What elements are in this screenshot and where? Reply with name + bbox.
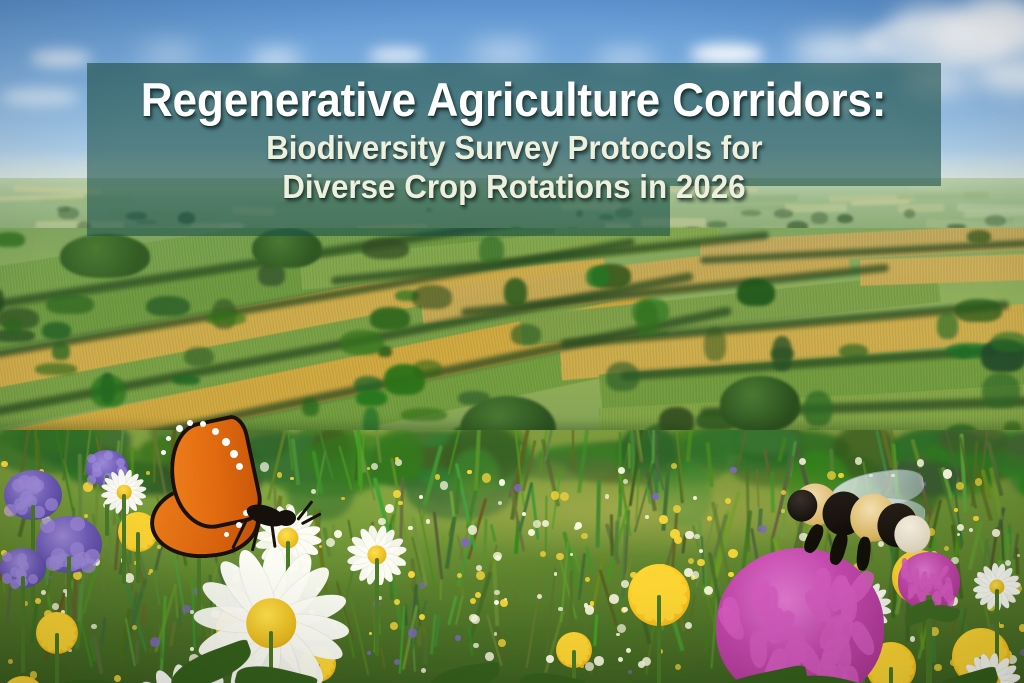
field-tree xyxy=(479,236,504,264)
field-tree xyxy=(704,327,726,361)
small-wildflower xyxy=(546,655,554,663)
small-wildflower xyxy=(973,516,978,521)
field-tree xyxy=(0,232,25,247)
small-wildflower xyxy=(49,576,52,579)
small-wildflower xyxy=(730,467,736,473)
small-wildflower xyxy=(468,525,477,534)
yellow-wildflower xyxy=(1,676,45,683)
small-wildflower xyxy=(537,594,542,599)
small-wildflower xyxy=(585,662,594,671)
small-wildflower xyxy=(499,479,506,486)
field-tree xyxy=(636,300,659,336)
small-wildflower xyxy=(626,648,631,653)
small-wildflower xyxy=(585,577,590,582)
cloud-shape xyxy=(140,46,198,62)
small-wildflower xyxy=(455,635,461,641)
page-title: Regenerative Agriculture Corridors: xyxy=(141,75,886,125)
small-wildflower xyxy=(585,605,595,615)
small-wildflower xyxy=(558,607,563,612)
small-wildflower xyxy=(150,637,160,647)
small-wildflower xyxy=(408,628,418,638)
small-wildflower xyxy=(622,607,628,613)
small-wildflower xyxy=(728,572,733,577)
field-tree xyxy=(737,279,775,306)
meadow-leaf xyxy=(429,661,502,683)
small-wildflower xyxy=(781,509,784,512)
small-wildflower xyxy=(475,592,481,598)
bumblebee-icon xyxy=(783,469,937,597)
subtitle-line-2: Diverse Crop Rotations in 2026 xyxy=(282,168,745,207)
grass-blade xyxy=(593,614,598,646)
small-wildflower xyxy=(697,559,704,566)
field-tree xyxy=(206,311,247,324)
grass-blade xyxy=(628,443,631,468)
distant-tree xyxy=(985,215,1006,226)
field-tree xyxy=(511,324,542,344)
small-wildflower xyxy=(394,599,401,606)
field-tree xyxy=(362,238,410,259)
flower-stem xyxy=(889,667,893,683)
field-tree xyxy=(413,360,443,377)
field-tree xyxy=(173,375,200,385)
small-wildflower xyxy=(494,600,499,605)
grass-blade xyxy=(5,583,12,623)
small-wildflower xyxy=(522,512,526,516)
field-tree xyxy=(302,398,318,417)
grass-blade xyxy=(526,579,542,668)
small-wildflower xyxy=(132,625,137,630)
grass-blade xyxy=(170,621,178,647)
small-wildflower xyxy=(182,605,191,614)
small-wildflower xyxy=(694,534,700,540)
cloud-shape xyxy=(690,44,764,64)
flower-stem xyxy=(55,633,59,683)
grass-blade xyxy=(572,430,574,468)
small-wildflower xyxy=(1019,624,1024,631)
small-wildflower xyxy=(581,533,587,539)
small-wildflower xyxy=(728,549,738,559)
field-tree xyxy=(839,344,868,359)
field-tree xyxy=(937,312,957,339)
small-wildflower xyxy=(1,461,8,468)
small-wildflower xyxy=(494,632,498,636)
small-wildflower xyxy=(125,573,135,583)
small-wildflower xyxy=(605,494,610,499)
cloud-shape xyxy=(368,48,426,63)
small-wildflower xyxy=(498,639,506,647)
grass-blade xyxy=(141,603,145,625)
small-wildflower xyxy=(494,590,499,595)
cloud-shape xyxy=(792,36,888,64)
grass-blade xyxy=(468,572,493,643)
small-wildflower xyxy=(617,624,626,633)
small-wildflower xyxy=(35,598,41,604)
small-wildflower xyxy=(556,553,563,560)
field-tree xyxy=(370,307,410,330)
small-wildflower xyxy=(594,656,604,666)
grass-blade xyxy=(704,634,711,653)
small-wildflower xyxy=(419,582,426,589)
canopy-tree xyxy=(60,234,150,278)
small-wildflower xyxy=(476,571,485,580)
small-wildflower xyxy=(688,558,694,564)
small-wildflower xyxy=(954,508,957,511)
small-wildflower xyxy=(618,657,623,662)
field-tree xyxy=(35,363,77,375)
small-wildflower xyxy=(148,572,151,575)
grass-blade xyxy=(135,640,140,664)
field-tree xyxy=(42,322,70,339)
field-tree xyxy=(4,317,23,334)
small-wildflower xyxy=(609,594,619,604)
small-wildflower xyxy=(393,490,401,498)
small-wildflower xyxy=(461,538,470,547)
grass-blade xyxy=(100,617,107,645)
flower-stem xyxy=(21,576,25,673)
small-wildflower xyxy=(408,526,413,531)
small-wildflower xyxy=(699,549,703,553)
small-wildflower xyxy=(590,601,594,605)
small-wildflower xyxy=(671,463,677,469)
small-wildflower xyxy=(114,675,122,683)
field-tree xyxy=(52,342,69,360)
small-wildflower xyxy=(855,457,862,464)
small-wildflower xyxy=(575,522,582,529)
small-wildflower xyxy=(675,664,681,670)
small-wildflower xyxy=(435,474,441,480)
small-wildflower xyxy=(628,670,633,675)
small-wildflower xyxy=(8,659,13,664)
small-wildflower xyxy=(341,497,344,500)
small-wildflower xyxy=(910,636,916,642)
field-tree xyxy=(184,347,214,366)
small-wildflower xyxy=(398,501,403,506)
subtitle-line-1: Biodiversity Survey Protocols for xyxy=(266,129,763,168)
small-wildflower xyxy=(469,614,478,623)
grass-blade xyxy=(380,648,386,669)
small-wildflower xyxy=(52,603,59,610)
flower-stem xyxy=(136,532,140,583)
field-tree xyxy=(606,362,640,391)
grass-blade xyxy=(174,588,179,618)
cloud-shape xyxy=(0,88,80,106)
field-tree xyxy=(967,230,991,243)
cloud-shape xyxy=(470,44,540,62)
field-tree xyxy=(982,373,1020,408)
small-wildflower xyxy=(693,496,697,500)
grass-blade xyxy=(513,589,518,613)
small-wildflower xyxy=(421,668,426,673)
small-wildflower xyxy=(975,478,983,486)
small-wildflower xyxy=(999,624,1003,628)
small-wildflower xyxy=(367,651,371,655)
cloud-shape xyxy=(30,50,92,67)
small-wildflower xyxy=(91,624,97,630)
field-tree xyxy=(356,390,387,405)
small-wildflower xyxy=(540,551,546,557)
field-tree xyxy=(991,332,1024,353)
field-tree xyxy=(340,330,385,355)
small-wildflower xyxy=(470,598,476,604)
small-wildflower xyxy=(390,622,398,630)
small-wildflower xyxy=(616,633,620,637)
small-wildflower xyxy=(395,457,399,461)
flower-stem xyxy=(657,595,661,683)
small-wildflower xyxy=(419,614,425,620)
small-wildflower xyxy=(485,652,494,661)
small-wildflower xyxy=(570,553,573,556)
small-wildflower xyxy=(618,467,625,474)
small-wildflower xyxy=(84,514,88,518)
monarch-butterfly-icon xyxy=(150,418,340,558)
poster-banner: Regenerative Agriculture Corridors: Biod… xyxy=(0,0,1024,683)
small-wildflower xyxy=(621,580,629,588)
small-wildflower xyxy=(1020,649,1024,656)
small-wildflower xyxy=(943,469,953,479)
small-wildflower xyxy=(638,661,645,668)
small-wildflower xyxy=(554,572,558,576)
distant-field-patch xyxy=(963,191,988,199)
field-tree xyxy=(772,336,791,370)
meadow-leaf xyxy=(58,674,135,683)
small-wildflower xyxy=(385,504,394,513)
field-tree xyxy=(412,285,451,309)
small-wildflower xyxy=(476,565,482,571)
title-block: Regenerative Agriculture Corridors: Biod… xyxy=(87,63,941,238)
field-tree xyxy=(504,278,527,306)
small-wildflower xyxy=(473,643,478,648)
small-wildflower xyxy=(758,525,767,534)
small-wildflower xyxy=(659,515,668,524)
small-wildflower xyxy=(685,622,692,629)
small-wildflower xyxy=(369,632,372,635)
small-wildflower xyxy=(495,555,501,561)
small-wildflower xyxy=(692,571,699,578)
small-wildflower xyxy=(799,458,806,465)
flower-stem xyxy=(122,494,126,583)
field-tree xyxy=(146,296,190,317)
small-wildflower xyxy=(992,529,999,536)
grass-blade xyxy=(609,514,612,556)
field-tree xyxy=(955,299,1001,322)
field-tree xyxy=(586,266,609,288)
field-tree xyxy=(91,375,126,407)
grass-blade xyxy=(424,634,429,664)
flower-stem xyxy=(375,558,379,656)
field-tree xyxy=(46,294,93,314)
small-wildflower xyxy=(63,589,67,593)
small-wildflower xyxy=(934,664,941,671)
small-wildflower xyxy=(482,473,491,482)
small-wildflower xyxy=(533,520,540,527)
small-wildflower xyxy=(500,599,508,607)
distant-tree xyxy=(57,206,71,212)
grass-blade xyxy=(614,521,619,560)
